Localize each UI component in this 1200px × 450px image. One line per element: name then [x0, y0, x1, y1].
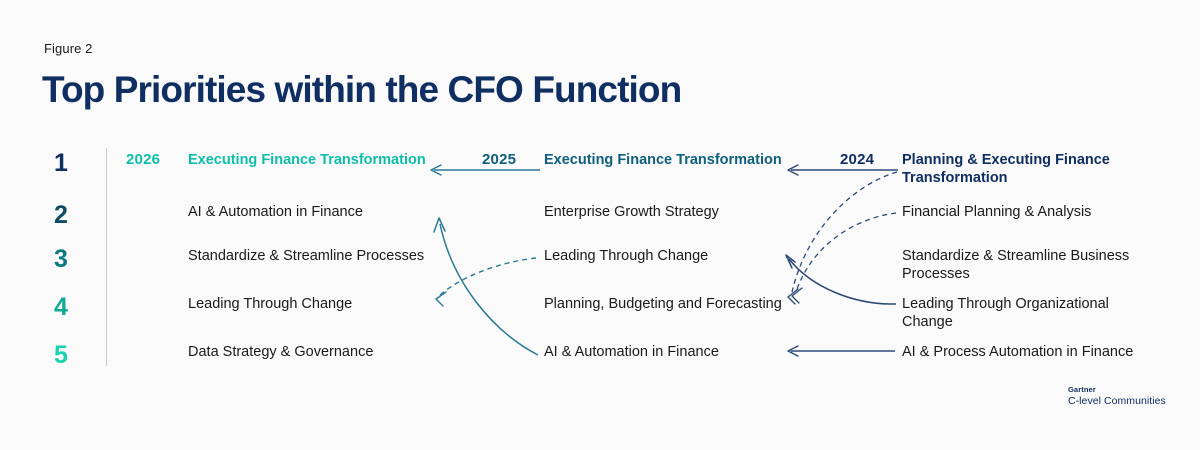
- arrow-2024-rank5-to-2025-rank5: [788, 346, 895, 356]
- priority-2026-3: Standardize & Streamline Processes: [188, 247, 424, 265]
- priority-2026-1: Executing Finance Transformation: [188, 151, 426, 169]
- priority-2025-5: AI & Automation in Finance: [544, 343, 719, 361]
- arrow-2025-rank3-to-2026-rank4: [436, 258, 536, 306]
- priority-2026-4: Leading Through Change: [188, 295, 352, 313]
- logo: Gartner C-level Communities: [1068, 385, 1166, 408]
- rank-3: 3: [54, 247, 84, 272]
- arrow-2024-rank2-to-2025-rank4: [792, 213, 896, 303]
- rank-1: 1: [54, 151, 84, 176]
- arrow-2024-rank1-to-2025-rank4: [788, 172, 897, 304]
- priority-2025-4: Planning, Budgeting and Forecasting: [544, 295, 782, 313]
- logo-brand: Gartner: [1068, 385, 1166, 395]
- rank-4: 4: [54, 295, 84, 320]
- priority-2024-3: Standardize & Streamline Business Proces…: [902, 247, 1162, 283]
- rank-column: 1 2 3 4 5: [54, 142, 94, 368]
- figure-canvas: Figure 2 Top Priorities within the CFO F…: [0, 0, 1200, 450]
- logo-subtitle: C-level Communities: [1068, 395, 1166, 408]
- rank-5: 5: [54, 343, 84, 368]
- rank-2: 2: [54, 203, 84, 228]
- page-title: Top Priorities within the CFO Function: [42, 69, 681, 111]
- priority-2026-5: Data Strategy & Governance: [188, 343, 373, 361]
- priority-2025-1: Executing Finance Transformation: [544, 151, 782, 169]
- priority-2025-2: Enterprise Growth Strategy: [544, 203, 719, 221]
- year-label-2026: 2026: [126, 151, 160, 168]
- priority-2024-5: AI & Process Automation in Finance: [902, 343, 1133, 361]
- priority-2025-3: Leading Through Change: [544, 247, 708, 265]
- year-label-2024: 2024: [840, 151, 874, 168]
- priority-2026-2: AI & Automation in Finance: [188, 203, 363, 221]
- vertical-divider: [106, 148, 107, 366]
- arrow-2024-rank4-to-2025-rank3: [786, 255, 896, 304]
- figure-label: Figure 2: [44, 41, 93, 56]
- priority-2024-1: Planning & Executing Finance Transformat…: [902, 151, 1162, 187]
- year-label-2025: 2025: [482, 151, 516, 168]
- priority-2024-2: Financial Planning & Analysis: [902, 203, 1091, 221]
- connector-arrows: [0, 0, 1200, 450]
- priority-2024-4: Leading Through Organizational Change: [902, 295, 1162, 331]
- arrow-2025-rank5-to-2026-rank2: [434, 218, 538, 355]
